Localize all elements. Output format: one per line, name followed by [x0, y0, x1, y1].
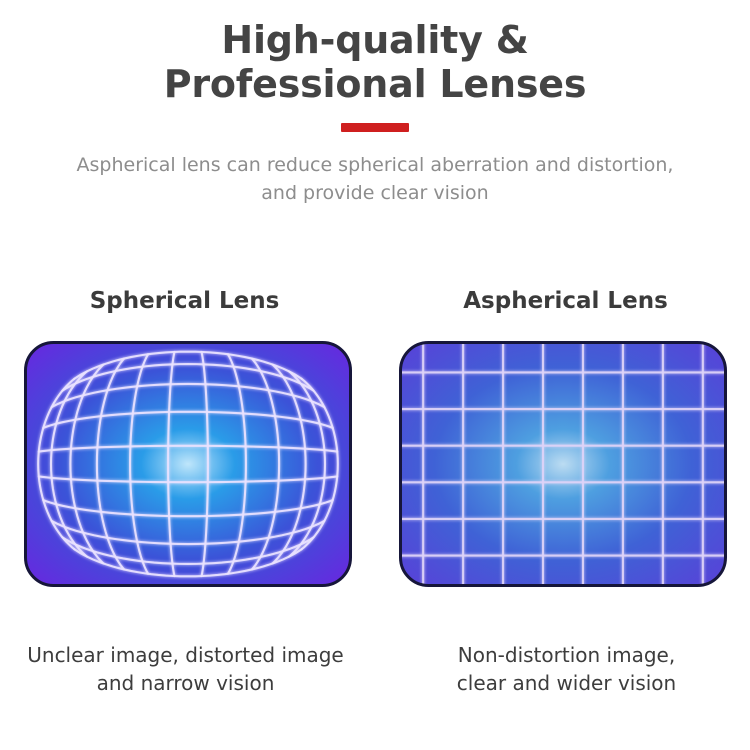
- lens-image-aspherical: [399, 341, 727, 587]
- panel-caption-aspherical: Non-distortion image, clear and wider vi…: [457, 642, 676, 697]
- panel-aspherical: Aspherical Lens Non-distortion image, cl…: [375, 286, 750, 726]
- title-accent-rule: [341, 123, 409, 132]
- lens-comparison: Spherical Lens Unclear image, distorted …: [0, 286, 750, 726]
- lens-grid-aspherical: [399, 341, 727, 587]
- lens-grid-spherical: [24, 341, 352, 587]
- panel-heading-spherical: Spherical Lens: [90, 286, 280, 320]
- infographic-page: High-quality & Professional Lenses Asphe…: [0, 0, 750, 750]
- panel-caption-spherical: Unclear image, distorted image and narro…: [27, 642, 343, 697]
- page-title: High-quality & Professional Lenses: [0, 18, 750, 107]
- lens-image-spherical: [24, 341, 352, 587]
- panel-spherical: Spherical Lens Unclear image, distorted …: [0, 286, 375, 726]
- page-subtitle: Aspherical lens can reduce spherical abe…: [0, 152, 750, 207]
- header: High-quality & Professional Lenses: [0, 18, 750, 132]
- panel-heading-aspherical: Aspherical Lens: [463, 286, 668, 320]
